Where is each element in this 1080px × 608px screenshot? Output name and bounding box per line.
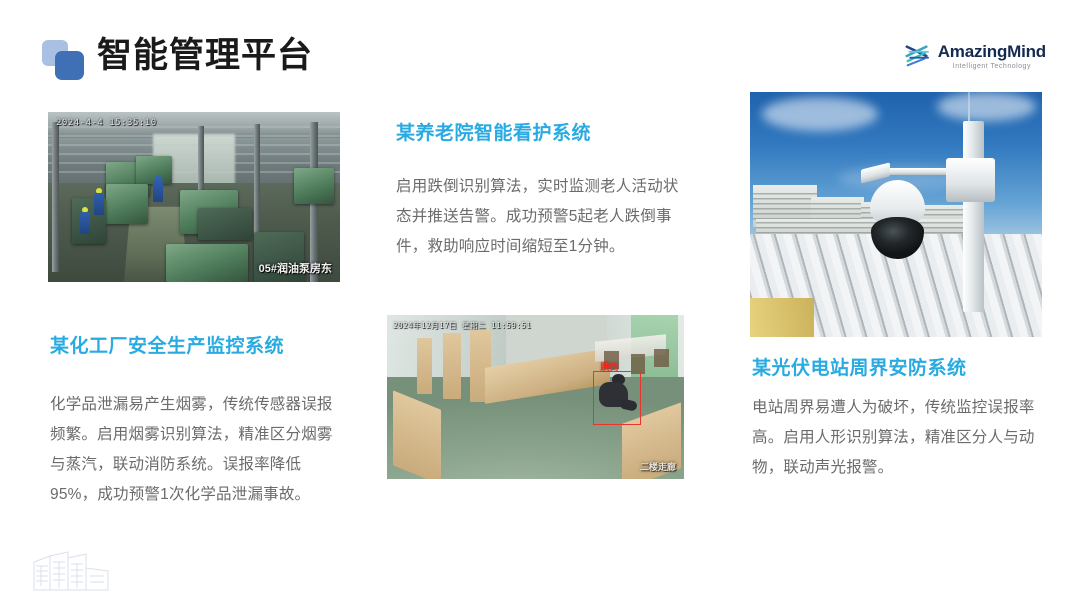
corridor-timestamp-overlay: 2024年12月17日 星期二 11:59:51 (393, 320, 531, 331)
double-square-icon (42, 40, 90, 82)
corridor-camera-label-overlay: 二楼走廊 (640, 460, 676, 473)
cloud-shape (762, 97, 879, 131)
corridor-door (417, 338, 432, 394)
fall-detection-label: 跌倒 (600, 360, 618, 373)
factory-machine (294, 168, 334, 204)
ptz-camera-photo (750, 92, 1042, 337)
amazingmind-logo-mark (900, 39, 934, 73)
factory-cctv-photo: 2024-4-4 15:35:10 05#润油泵房东 (48, 112, 340, 282)
factory-machine (106, 184, 148, 224)
page-title: 智能管理平台 (97, 34, 313, 78)
card-body-chemical-plant: 化学品泄漏易产生烟雾，传统传感器误报频繁。启用烟雾识别算法，精准区分烟雾与蒸汽，… (50, 390, 345, 510)
building-line-art-icon (28, 546, 120, 596)
brand-text: AmazingMind Intelligent Technology (938, 43, 1046, 70)
factory-worker (151, 175, 165, 207)
card-title-nursing-home: 某养老院智能看护系统 (396, 118, 696, 145)
factory-column (254, 124, 260, 244)
slide-header: 智能管理平台 AmazingMind Intelligent Technolog… (0, 0, 1080, 95)
card-title-chemical-plant: 某化工厂安全生产监控系统 (50, 331, 350, 358)
person-leg (620, 398, 639, 411)
detected-person (596, 374, 640, 414)
worker-body (94, 193, 104, 215)
corridor-cctv-photo: 跌倒 2024年12月17日 星期二 11:59:51 二楼走廊 (387, 315, 684, 479)
brand-logo: AmazingMind Intelligent Technology (900, 36, 1046, 76)
corridor-chair (654, 349, 669, 367)
factory-machine (166, 244, 248, 282)
factory-column (198, 126, 204, 196)
brand-name: AmazingMind (938, 43, 1046, 60)
factory-column (52, 122, 59, 272)
brand-tagline: Intelligent Technology (953, 63, 1031, 70)
mounting-pole (963, 121, 984, 312)
pole-mount-plate (946, 158, 996, 202)
card-body-solar-plant: 电站周界易遭人为破坏，传统监控误报率高。启用人形识别算法，精准区分人与动物，联动… (752, 393, 1048, 483)
factory-machine (198, 208, 252, 240)
card-title-solar-plant: 某光伏电站周界安防系统 (752, 353, 1052, 380)
roof-yellow-edge (750, 298, 814, 337)
factory-camera-label-overlay: 05#润油泵房东 (259, 260, 332, 276)
factory-timestamp-overlay: 2024-4-4 15:35:10 (56, 118, 157, 128)
factory-worker (92, 188, 106, 218)
card-body-nursing-home: 启用跌倒识别算法，实时监测老人活动状态并推送告警。成功预警5起老人跌倒事件，救助… (396, 172, 686, 262)
square-front-shape (55, 51, 84, 80)
worker-body (80, 212, 90, 234)
worker-body (153, 180, 163, 202)
corridor-door (443, 333, 461, 399)
factory-worker (78, 207, 92, 239)
